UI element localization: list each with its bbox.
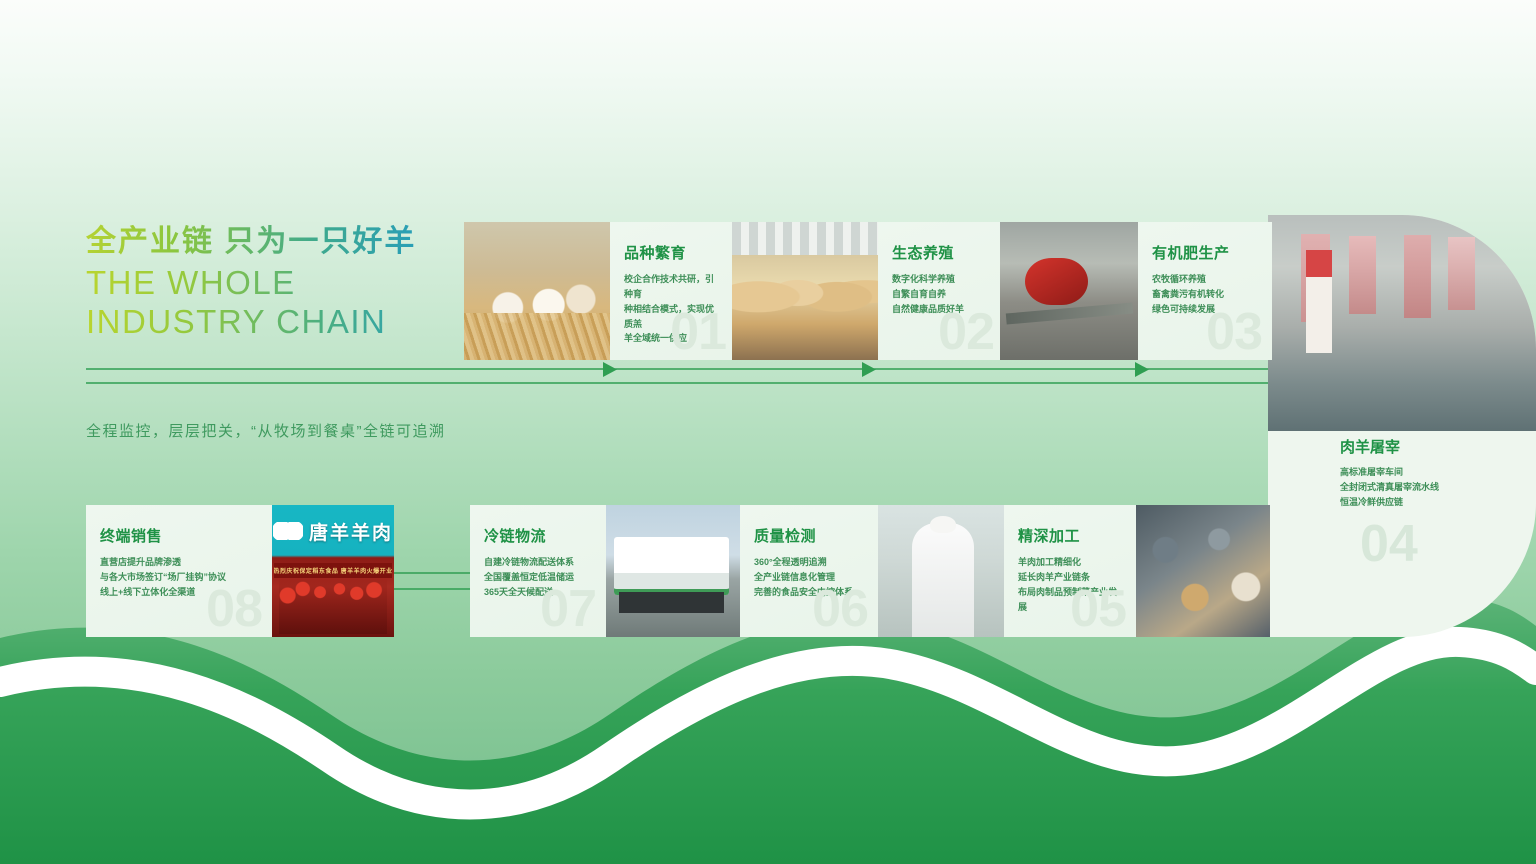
step-number-03: 03 [1206,306,1262,358]
step-desc-line: 360°全程透明追溯 [754,555,864,570]
step-photo-03 [1000,222,1138,360]
step-number-02: 02 [938,306,994,358]
step-card-02[interactable]: 生态养殖 数字化科学养殖 自繁自育自养 自然健康品质好羊 02 [732,222,1004,360]
page-title-en: THE WHOLE INDUSTRY CHAIN [86,264,486,342]
step-number-04: 04 [1360,518,1418,570]
step-number-08: 08 [206,583,262,635]
step-card-03[interactable]: 有机肥生产 农牧循环养殖 畜禽粪污有机转化 绿色可持续发展 03 [1000,222,1272,360]
page-tagline: 全程监控，层层把关，“从牧场到餐桌”全链可追溯 [86,420,446,441]
step-desc-line: 数字化科学养殖 [892,272,990,287]
step-title-02: 生态养殖 [892,242,990,263]
step-number-01: 01 [670,306,726,358]
step-desc-line: 校企合作技术共研，引种育 [624,272,722,302]
step-number-07: 07 [540,583,596,635]
header-block: 全产业链 只为一只好羊 THE WHOLE INDUSTRY CHAIN [86,222,486,341]
step-card-04[interactable]: 肉羊屠宰 高标准屠宰车间 全封闭式清真屠宰流水线 恒温冷鲜供应链 04 [1340,436,1536,636]
step-card-01[interactable]: 品种繁育 校企合作技术共研，引种育 种相结合模式，实现优质羔 羊全域统一供应 0… [464,222,736,360]
step-photo-01 [464,222,610,360]
step-title-05: 精深加工 [1018,525,1122,546]
step-desc-line: 农牧循环养殖 [1152,272,1258,287]
step-card-05[interactable]: 精深加工 羊肉加工精细化 延长肉羊产业链条 布局肉制品预制菜产业发展 05 [1004,505,1270,637]
step-title-03: 有机肥生产 [1152,242,1258,263]
step-photo-07 [606,505,740,637]
step-photo-08: 唐羊羊肉 热烈庆祝保定稻东食品 唐羊羊肉火爆开业 [272,505,394,637]
page-title-cn: 全产业链 只为一只好羊 [86,222,486,262]
storefront-sign-text: 唐羊羊肉 [309,518,393,545]
step-desc-line: 自建冷链物流配送体系 [484,555,592,570]
storefront-banner: 热烈庆祝保定稻东食品 唐羊羊肉火爆开业 [274,563,391,578]
step-desc-line: 畜禽粪污有机转化 [1152,287,1258,302]
storefront-sign: 唐羊羊肉 [272,505,394,558]
step-title-01: 品种繁育 [624,242,722,263]
page-title-en-line1: THE WHOLE [86,264,486,303]
step-desc-line: 全封闭式清真屠宰流水线 [1340,480,1536,495]
step-photo-04 [1268,215,1536,431]
step-desc-line: 高标准屠宰车间 [1340,465,1536,480]
step-title-07: 冷链物流 [484,525,592,546]
sheep-mascot-icon [273,522,303,540]
step-number-06: 06 [812,583,868,635]
page-title-en-line2: INDUSTRY CHAIN [86,303,486,342]
step-number-05: 05 [1070,583,1126,635]
step-card-07[interactable]: 冷链物流 自建冷链物流配送体系 全国覆盖恒定低温储运 365天全天候配送 07 [470,505,740,637]
step-desc-line: 恒温冷鲜供应链 [1340,495,1536,510]
step-title-06: 质量检测 [754,525,864,546]
step-desc-line: 直营店提升品牌渗透 [100,555,258,570]
step-desc-04: 高标准屠宰车间 全封闭式清真屠宰流水线 恒温冷鲜供应链 [1340,465,1536,510]
step-desc-line: 羊肉加工精细化 [1018,555,1122,570]
step-desc-line: 自繁自育自养 [892,287,990,302]
step-title-08: 终端销售 [100,525,258,546]
step-photo-05 [1136,505,1270,637]
step-photo-02 [732,222,878,360]
step-card-06[interactable]: 质量检测 360°全程透明追溯 全产业链信息化管理 完善的食品安全内控体系 06 [740,505,1008,637]
step-title-04: 肉羊屠宰 [1340,436,1536,457]
step-card-08[interactable]: 终端销售 直营店提升品牌渗透 与各大市场签订“场厂挂钩”协议 线上+线下立体化全… [86,505,394,637]
step-photo-06 [878,505,1008,637]
